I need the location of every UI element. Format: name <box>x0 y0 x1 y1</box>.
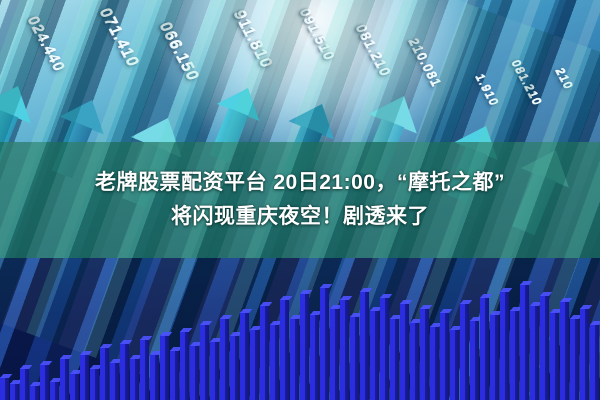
chart-bar <box>540 295 549 400</box>
chart-bar <box>380 297 389 400</box>
chart-bar <box>390 318 399 400</box>
chart-bar <box>280 299 289 400</box>
chart-bar <box>150 354 159 400</box>
chart-bar <box>10 383 19 400</box>
chart-bar <box>350 316 359 400</box>
chart-bar <box>0 377 9 400</box>
chart-bar <box>520 284 529 400</box>
chart-bar <box>360 291 369 400</box>
chart-bar <box>300 293 309 400</box>
chart-bar <box>50 381 59 400</box>
chart-bar <box>180 331 189 400</box>
chart-bar <box>340 299 349 400</box>
chart-bar <box>330 308 339 400</box>
chart-bar <box>30 385 39 400</box>
chart-bar <box>510 310 519 400</box>
banner-image: 024.440071.410066.150911.810091.510081.2… <box>0 0 600 400</box>
chart-bar <box>40 364 49 400</box>
chart-bar <box>560 301 569 400</box>
chart-bar <box>490 314 499 400</box>
chart-bar <box>140 339 149 400</box>
chart-bar <box>60 358 69 400</box>
chart-bar <box>450 329 459 400</box>
chart-bar <box>160 335 169 400</box>
chart-bar <box>420 308 429 400</box>
chart-bar <box>320 287 329 400</box>
chart-bar <box>400 303 409 400</box>
chart-bar <box>90 368 99 400</box>
chart-bar <box>210 341 219 400</box>
chart-bar <box>550 312 559 400</box>
chart-bar <box>250 329 259 400</box>
chart-bar <box>200 324 209 400</box>
chart-bar <box>270 324 279 400</box>
chart-bar <box>230 335 239 400</box>
chart-bar <box>500 291 509 400</box>
chart-bar <box>100 347 109 400</box>
chart-bar <box>20 368 29 400</box>
chart-bar <box>220 318 229 400</box>
chart-bar <box>130 358 139 400</box>
chart-bar <box>290 318 299 400</box>
chart-bar <box>460 303 469 400</box>
chart-bar <box>70 373 79 400</box>
chart-bar <box>480 297 489 400</box>
headline-text: 老牌股票配资平台 20日21:00，“摩托之都” 将闪现重庆夜空！剧透来了 <box>0 142 600 258</box>
chart-bar <box>440 312 449 400</box>
chart-bar <box>80 354 89 400</box>
chart-bar <box>580 308 589 400</box>
chart-bar <box>590 324 599 400</box>
chart-bar <box>470 320 479 400</box>
chart-bar <box>430 326 439 400</box>
chart-bar <box>170 350 179 400</box>
chart-bar <box>240 312 249 400</box>
chart-bar <box>190 345 199 400</box>
chart-bar <box>120 343 129 400</box>
headline-line-2: 将闪现重庆夜空！剧透来了 <box>171 202 429 232</box>
chart-bar <box>260 305 269 400</box>
chart-bar <box>370 310 379 400</box>
headline-line-1: 老牌股票配资平台 20日21:00，“摩托之都” <box>95 168 505 198</box>
chart-bar <box>570 318 579 400</box>
chart-bar <box>530 305 539 400</box>
chart-bar <box>410 322 419 400</box>
chart-bar <box>110 362 119 400</box>
chart-bar <box>310 314 319 400</box>
